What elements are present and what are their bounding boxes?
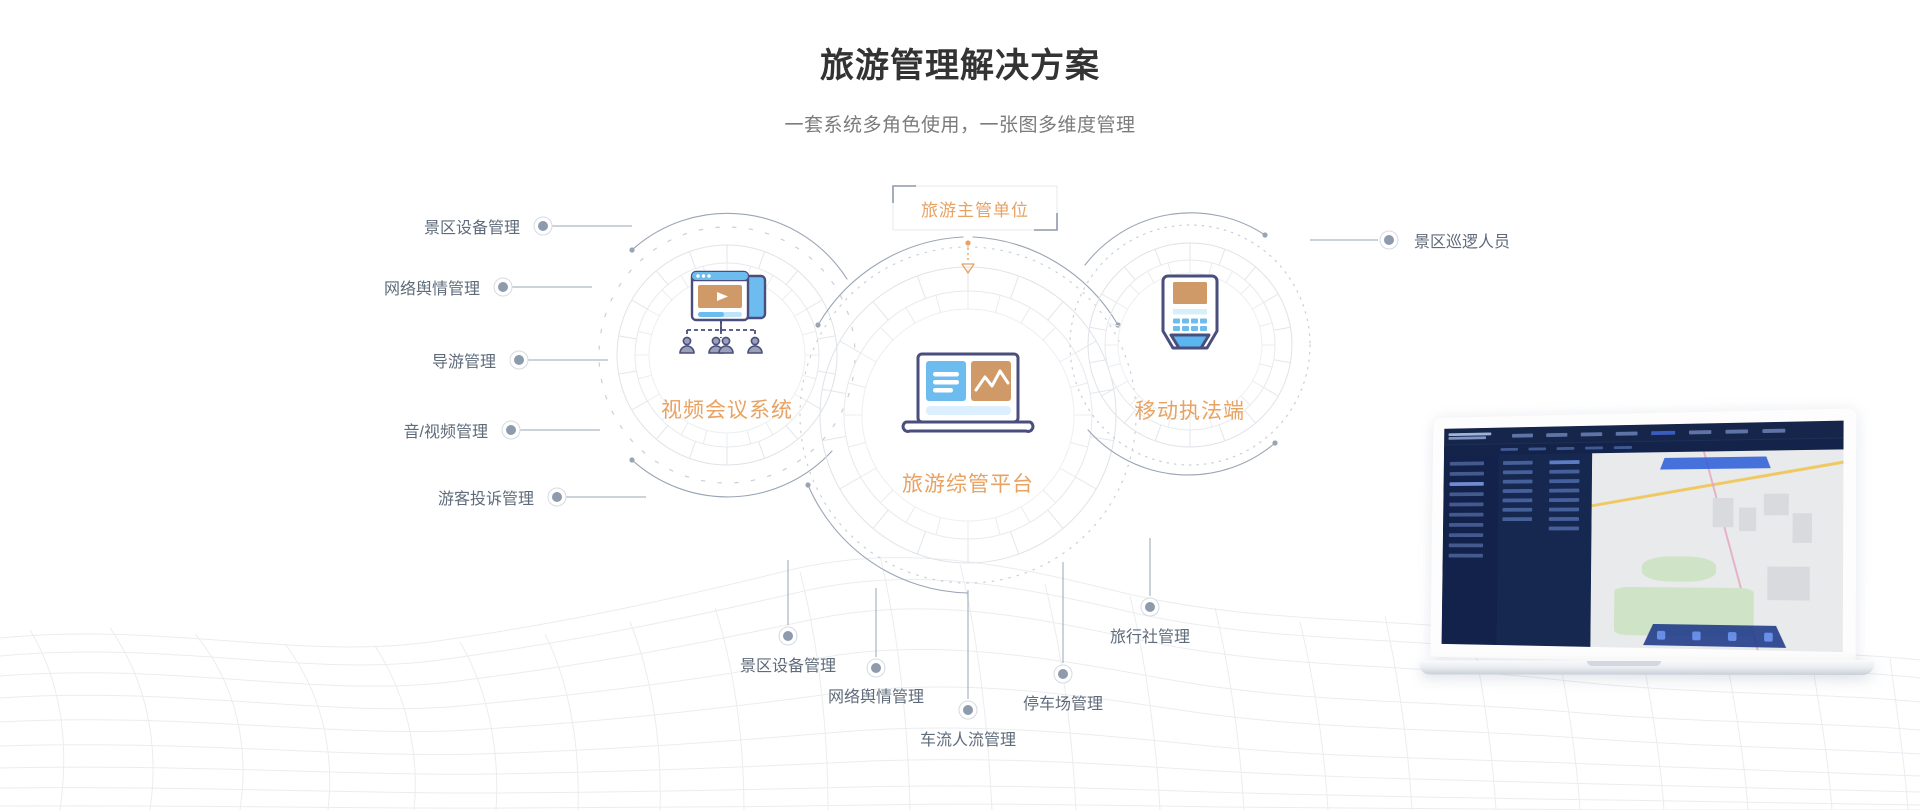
laptop-screen	[1442, 421, 1844, 652]
legend-item[interactable]	[1549, 479, 1579, 483]
nav-item[interactable]	[1762, 428, 1785, 432]
legend-item[interactable]	[1549, 517, 1579, 521]
map-building	[1767, 567, 1810, 601]
tab-chip[interactable]	[1528, 447, 1546, 450]
dashboard-sidebar	[1442, 455, 1499, 645]
nav-item[interactable]	[1725, 429, 1748, 433]
sidebar-item[interactable]	[1450, 472, 1484, 476]
handheld-terminal-icon	[1163, 276, 1217, 348]
sidebar-item[interactable]	[1449, 492, 1483, 496]
nav-item-active[interactable]	[1651, 430, 1675, 434]
page-subtitle: 一套系统多角色使用，一张图多维度管理	[0, 110, 1920, 137]
tab-chip[interactable]	[1557, 447, 1575, 450]
bottom-label-parking-management: 停车场管理	[1023, 690, 1103, 714]
dock-icon[interactable]	[1656, 630, 1664, 639]
map-building	[1713, 498, 1734, 527]
dashboard-layer-panel	[1497, 453, 1593, 647]
map-park	[1642, 556, 1716, 582]
dashboard-map-canvas[interactable]	[1590, 449, 1843, 652]
video-window-icon	[680, 272, 765, 353]
sidebar-item[interactable]	[1449, 523, 1483, 527]
layer-item[interactable]	[1502, 517, 1532, 521]
left-label-audio-video-management: 音/视频管理	[404, 418, 488, 442]
map-building	[1792, 513, 1812, 543]
bottom-label-scenic-device-management: 景区设备管理	[740, 652, 836, 676]
legend-item[interactable]	[1549, 508, 1579, 512]
left-label-scenic-device-management: 景区设备管理	[424, 214, 520, 238]
nav-item[interactable]	[1616, 431, 1638, 435]
left-connector-dots	[494, 217, 566, 506]
authority-label: 旅游主管单位	[908, 187, 1042, 229]
page-title: 旅游管理解决方案	[0, 38, 1920, 87]
nav-item[interactable]	[1512, 433, 1533, 437]
right-label-scenic-patrol-staff: 景区巡逻人员	[1414, 228, 1510, 252]
sidebar-item[interactable]	[1449, 543, 1483, 547]
dashboard-nav	[1503, 427, 1843, 437]
layer-item[interactable]	[1502, 508, 1532, 512]
map-building	[1739, 508, 1756, 532]
dock-icon[interactable]	[1692, 631, 1700, 640]
sidebar-item[interactable]	[1449, 502, 1483, 506]
layer-item[interactable]	[1503, 470, 1533, 474]
laptop-mockup	[1374, 408, 1874, 708]
layer-legend-column	[1543, 453, 1592, 647]
ring-video-conference	[579, 207, 876, 504]
bottom-label-network-opinion-management: 网络舆情管理	[828, 683, 924, 707]
sidebar-item-active[interactable]	[1450, 482, 1484, 486]
nav-item[interactable]	[1546, 432, 1567, 436]
sidebar-item[interactable]	[1450, 461, 1484, 465]
nav-item[interactable]	[1581, 432, 1603, 436]
dashboard-logo	[1444, 432, 1503, 440]
layer-item[interactable]	[1503, 461, 1533, 465]
right-connectors	[1310, 231, 1398, 249]
node-label-mobile-enforcement: 移动执法端	[1135, 395, 1245, 425]
tab-chip[interactable]	[1585, 446, 1603, 449]
left-label-guide-management: 导游管理	[432, 348, 496, 372]
bottom-connectors	[788, 538, 1150, 699]
legend-item[interactable]	[1549, 470, 1579, 474]
map-bottom-dock[interactable]	[1643, 624, 1786, 648]
dashboard-mockup	[1442, 421, 1844, 652]
layer-item[interactable]	[1503, 480, 1533, 484]
layer-tree-column	[1497, 454, 1545, 646]
tab-chip[interactable]	[1614, 446, 1632, 449]
legend-item[interactable]	[1549, 527, 1579, 531]
sidebar-item[interactable]	[1449, 513, 1483, 517]
laptop-lid	[1430, 408, 1856, 666]
sidebar-item[interactable]	[1449, 533, 1483, 537]
laptop-notch	[1587, 661, 1661, 666]
dashboard-body	[1442, 449, 1844, 652]
left-label-tourist-complaint-management: 游客投诉管理	[438, 485, 534, 509]
layer-item[interactable]	[1503, 489, 1533, 493]
page-root: 旅游管理解决方案 一套系统多角色使用，一张图多维度管理	[0, 0, 1920, 810]
dock-icon[interactable]	[1727, 632, 1736, 641]
node-label-tourism-platform: 旅游综管平台	[902, 468, 1034, 498]
left-label-network-opinion-management: 网络舆情管理	[384, 275, 480, 299]
node-label-video-conference: 视频会议系统	[661, 394, 793, 424]
map-building	[1764, 494, 1789, 516]
left-connectors	[512, 226, 646, 497]
sidebar-item[interactable]	[1449, 554, 1483, 558]
nav-item[interactable]	[1689, 430, 1711, 434]
dock-icon[interactable]	[1764, 632, 1773, 641]
bottom-label-travel-agency-management: 旅行社管理	[1110, 623, 1190, 647]
bottom-label-traffic-flow-management: 车流人流管理	[920, 726, 1016, 750]
layer-item[interactable]	[1503, 498, 1533, 502]
legend-item[interactable]	[1549, 489, 1579, 493]
tab-chip[interactable]	[1501, 448, 1518, 451]
legend-item[interactable]	[1549, 498, 1579, 502]
laptop-dashboard-icon	[903, 354, 1033, 431]
map-mode-switch[interactable]	[1660, 456, 1771, 469]
legend-item-active[interactable]	[1549, 460, 1579, 464]
